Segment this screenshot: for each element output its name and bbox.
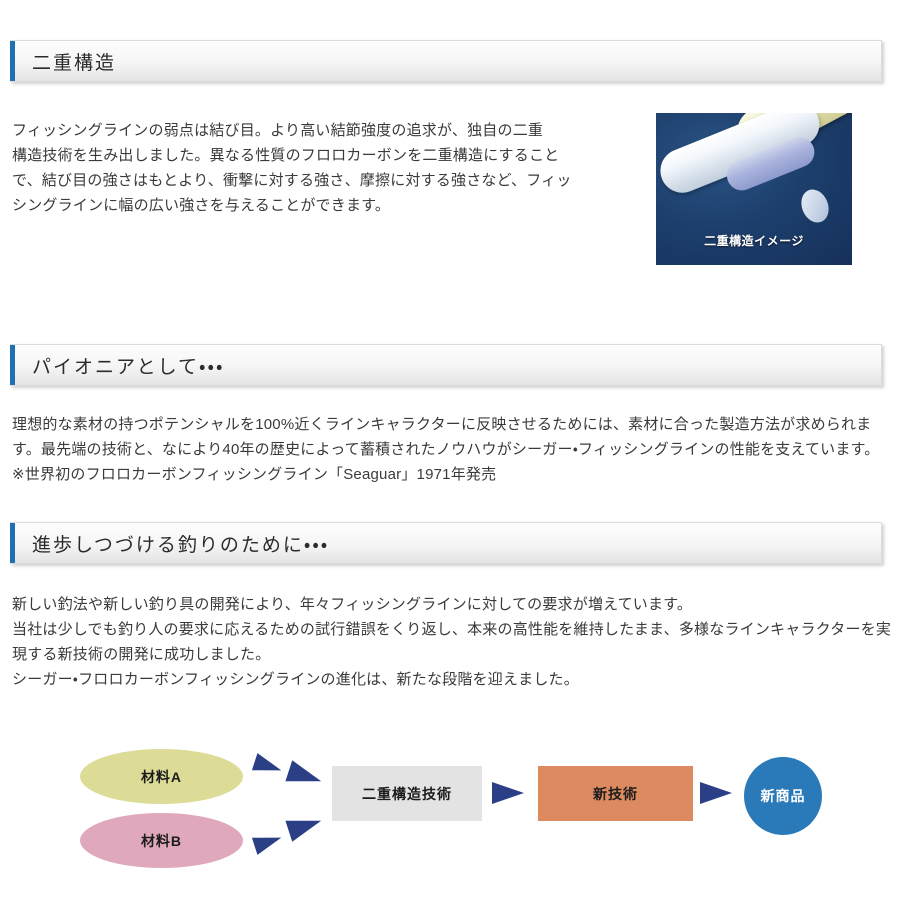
section-title: 二重構造: [32, 48, 116, 75]
diagram-node-material-a: 材料A: [80, 749, 243, 804]
arrow-right-icon: [700, 782, 732, 804]
tube-cap-shape: [797, 185, 834, 226]
diagram-node-label: 材料A: [141, 767, 182, 787]
section-body-progress: 新しい釣法や新しい釣り具の開発により、年々フィッシングラインに対しての要求が増え…: [12, 592, 892, 692]
section-body-pioneer: 理想的な素材の持つポテンシャルを100%近くラインキャラクターに反映させるために…: [12, 412, 892, 487]
diagram-node-new-technology: 新技術: [538, 766, 693, 821]
arrow-wedge-icon: [285, 810, 324, 841]
section-heading-double-structure: 二重構造: [10, 40, 882, 82]
section-title: 進歩しつづける釣りのために・・・: [32, 530, 329, 557]
arrow-wedge-icon: [252, 753, 284, 779]
arrow-wedge-icon: [285, 760, 324, 791]
section-heading-pioneer: パイオニアとして・・・: [10, 344, 882, 386]
diagram-node-new-product: 新商品: [744, 757, 822, 835]
diagram-node-label: 二重構造技術: [362, 784, 452, 804]
product-technology-page: 二重構造 フィッシングラインの弱点は結び目。より高い結節強度の追求が、独自の二重…: [0, 0, 900, 900]
diagram-node-label: 新商品: [761, 786, 806, 806]
arrow-right-icon: [492, 782, 524, 804]
section-title: パイオニアとして・・・: [32, 352, 224, 379]
double-structure-illustration: 二重構造イメージ: [656, 113, 852, 265]
accent-bar-icon: [10, 41, 15, 81]
illustration-caption: 二重構造イメージ: [656, 232, 852, 249]
section-body-double-structure: フィッシングラインの弱点は結び目。より高い結節強度の追求が、独自の二重 構造技術…: [12, 118, 612, 218]
accent-bar-icon: [10, 523, 15, 563]
diagram-node-label: 新技術: [593, 784, 638, 804]
diagram-node-label: 材料B: [141, 831, 182, 851]
accent-bar-icon: [10, 345, 15, 385]
diagram-node-double-structure-tech: 二重構造技術: [332, 766, 482, 821]
arrow-wedge-icon: [252, 829, 284, 855]
diagram-node-material-b: 材料B: [80, 813, 243, 868]
section-heading-progress: 進歩しつづける釣りのために・・・: [10, 522, 882, 564]
